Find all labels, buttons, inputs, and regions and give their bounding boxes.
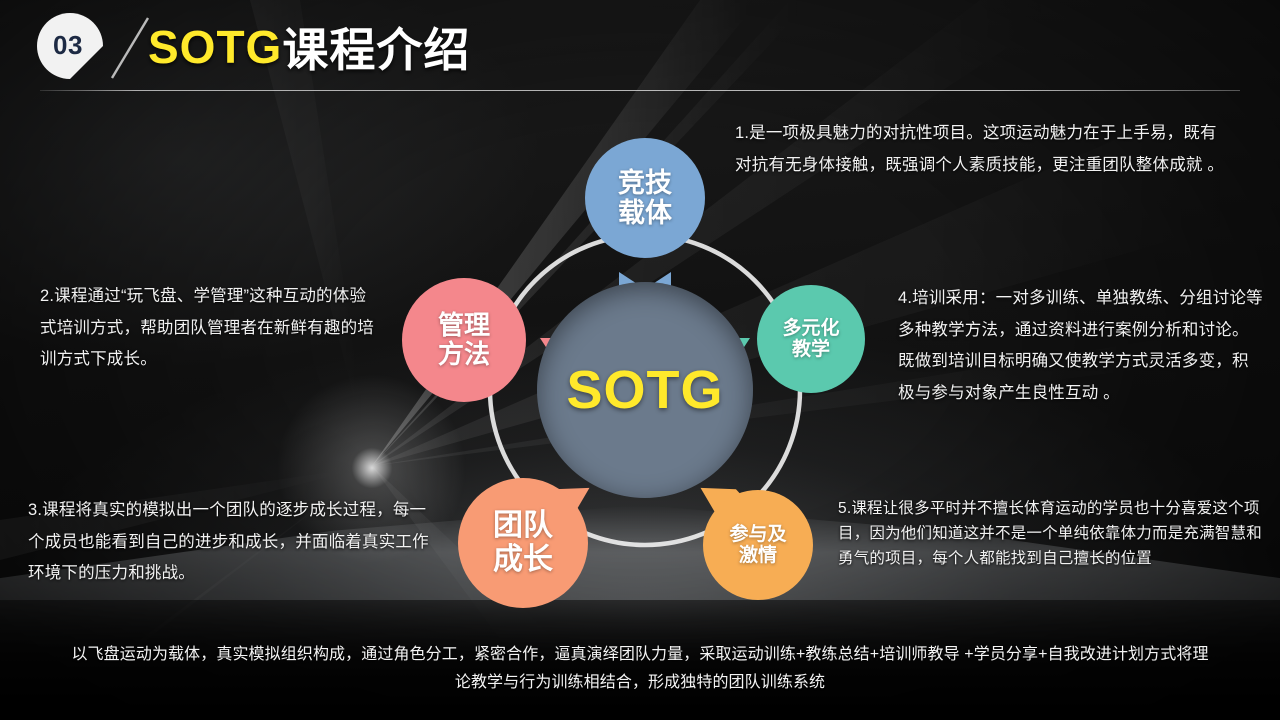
step-number: 03	[36, 12, 104, 80]
node-diverse-teaching[interactable]: 多元化 教学	[757, 285, 865, 393]
node-participation-line2: 激情	[739, 545, 777, 566]
node-participation[interactable]: 参与及 激情	[703, 490, 813, 600]
slash-divider-icon	[108, 14, 152, 82]
node-team-growth[interactable]: 团队 成长	[458, 478, 588, 608]
node-management-line1: 管理	[438, 311, 490, 340]
slide-root: 03 SOTG 课程介绍 SOTG	[0, 0, 1280, 720]
para-2: 2.课程通过“玩飞盘、学管理”这种互动的体验式培训方式，帮助团队管理者在新鲜有趣…	[40, 281, 382, 376]
header-divider	[40, 90, 1240, 91]
summary-caption: 以飞盘运动为载体，真实模拟组织构成，通过角色分工，紧密合作，逼真演绎团队力量，采…	[70, 641, 1210, 697]
node-competition-line1: 竞技	[618, 168, 672, 198]
node-management[interactable]: 管理 方法	[402, 278, 526, 402]
para-1: 1.是一项极具魅力的对抗性项目。这项运动魅力在于上手易，既有对抗有无身体接触，既…	[735, 118, 1231, 181]
sotg-cycle-diagram: SOTG 竞技 载体 多元化 教学 参与及 激情 团队 成长 管理 方法	[390, 120, 900, 620]
page-title-cn: 课程介绍	[282, 14, 470, 80]
para-5: 5.课程让很多平时并不擅长体育运动的学员也十分喜爱这个项目，因为他们知道这并不是…	[838, 496, 1268, 571]
para-3: 3.课程将真实的模拟出一个团队的逐步成长过程，每一个成员也能看到自己的进步和成长…	[28, 495, 434, 590]
diagram-center-node[interactable]: SOTG	[537, 282, 753, 498]
node-team-growth-line1: 团队	[493, 509, 553, 543]
node-competition[interactable]: 竞技 载体	[585, 138, 705, 258]
node-diverse-teaching-line1: 多元化	[782, 318, 839, 339]
para-4: 4.培训采用：一对多训练、单独教练、分组讨论等多种教学方法，通过资料进行案例分析…	[898, 283, 1264, 410]
page-title-en: SOTG	[148, 20, 282, 74]
node-competition-line2: 载体	[618, 198, 672, 228]
slide-header: 03 SOTG 课程介绍	[0, 0, 1280, 100]
node-management-line2: 方法	[438, 340, 490, 369]
page-title: SOTG 课程介绍	[148, 14, 470, 80]
node-diverse-teaching-line2: 教学	[792, 339, 830, 360]
center-label: SOTG	[566, 359, 723, 421]
node-team-growth-line2: 成长	[493, 543, 553, 577]
node-participation-line1: 参与及	[729, 524, 786, 545]
